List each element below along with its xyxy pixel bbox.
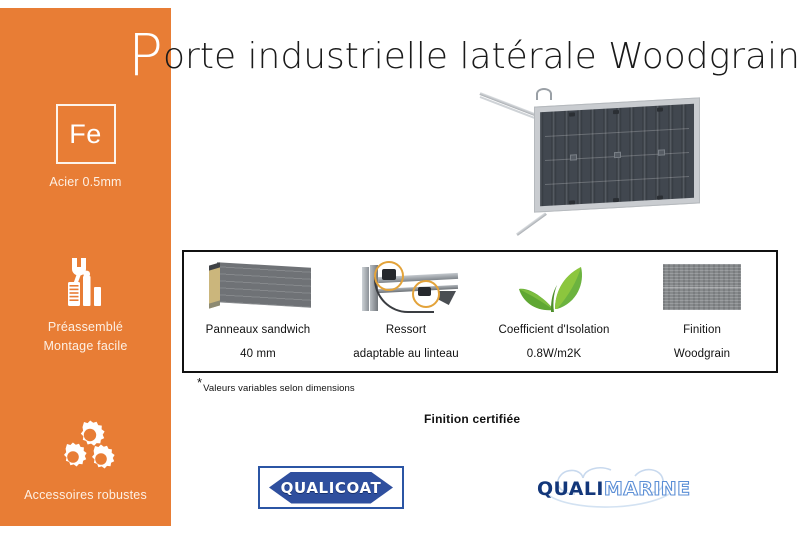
- door-rail-top: [479, 92, 538, 117]
- qualimarine-text-quali: QUALI: [537, 478, 604, 500]
- sidebar-item-accessories: Accessoires robustes: [0, 416, 171, 505]
- door-hinge: [613, 110, 619, 114]
- footnote: *Valeurs variables selon dimensions: [197, 383, 355, 394]
- feature-title: Panneaux sandwich: [206, 324, 311, 336]
- qualicoat-logo-text: QUALICOAT: [281, 479, 382, 497]
- torsion-spring-icon: [352, 261, 460, 313]
- door-rail-top-secondary: [480, 96, 535, 119]
- footnote-star: *: [197, 375, 202, 390]
- feature-value: 0.8W/m2K: [527, 348, 581, 360]
- green-leaves-icon: [511, 261, 597, 313]
- sidebar-item-steel: Fe Acier 0.5mm: [0, 104, 171, 192]
- product-door-image: [472, 86, 708, 236]
- fe-badge-label: Fe: [69, 121, 102, 148]
- feature-value: adaptable au linteau: [353, 348, 459, 360]
- feature-sidebar: Fe Acier 0.5mm: [0, 8, 171, 526]
- sidebar-item-steel-label: Acier 0.5mm: [0, 173, 171, 192]
- certification-heading: Finition certifiée: [424, 412, 520, 426]
- fe-element-icon: Fe: [56, 104, 116, 164]
- door-hinge: [569, 200, 575, 204]
- sidebar-item-preassembled: Préassemblé Montage facile: [0, 248, 171, 356]
- qualicoat-logo: QUALICOAT: [258, 466, 404, 509]
- feature-title: Coefficient d'Isolation: [498, 324, 609, 336]
- feature-title: Ressort: [386, 324, 426, 336]
- feature-value: Woodgrain: [674, 348, 730, 360]
- sidebar-item-preassembled-label-2: Montage facile: [0, 337, 171, 356]
- wrench-tools-icon: [0, 248, 171, 310]
- qualimarine-logo: QUALIMARINE: [527, 464, 697, 512]
- door-rail-bottom: [516, 212, 547, 236]
- qualimarine-text-marine: MARINE: [604, 478, 691, 500]
- feature-column-finish: Finition Woodgrain: [628, 252, 776, 371]
- door-hinge: [613, 198, 619, 202]
- page-title-text: orte industrielle latérale Woodgrain: [163, 26, 800, 88]
- door-fitting: [658, 149, 665, 155]
- footnote-text: Valeurs variables selon dimensions: [203, 383, 355, 394]
- door-fitting: [614, 152, 621, 158]
- sidebar-item-preassembled-label-1: Préassemblé: [0, 318, 171, 337]
- door-hinge: [569, 112, 575, 116]
- slide-canvas: Fe Acier 0.5mm: [0, 0, 800, 534]
- feature-column-panel: Panneaux sandwich 40 mm: [184, 252, 332, 371]
- sidebar-item-accessories-label: Accessoires robustes: [0, 486, 171, 505]
- door-hinge: [657, 107, 663, 111]
- door-hinge: [657, 195, 663, 199]
- qualimarine-logo-text: QUALIMARINE: [537, 478, 690, 500]
- feature-column-insulation: Coefficient d'Isolation 0.8W/m2K: [480, 252, 628, 371]
- feature-column-spring: Ressort adaptable au linteau: [332, 252, 480, 371]
- door-fitting: [570, 154, 577, 160]
- door-hook-icon: [536, 88, 552, 100]
- sandwich-panel-icon: [205, 263, 311, 311]
- gears-icon: [0, 416, 171, 478]
- feature-value: 40 mm: [240, 348, 276, 360]
- highlight-ring-icon: [412, 280, 440, 308]
- woodgrain-swatch-icon: [663, 264, 741, 310]
- feature-title: Finition: [683, 324, 721, 336]
- door-frame: [534, 97, 700, 212]
- highlight-ring-icon: [374, 261, 404, 291]
- feature-spec-box: Panneaux sandwich 40 mm: [182, 250, 778, 373]
